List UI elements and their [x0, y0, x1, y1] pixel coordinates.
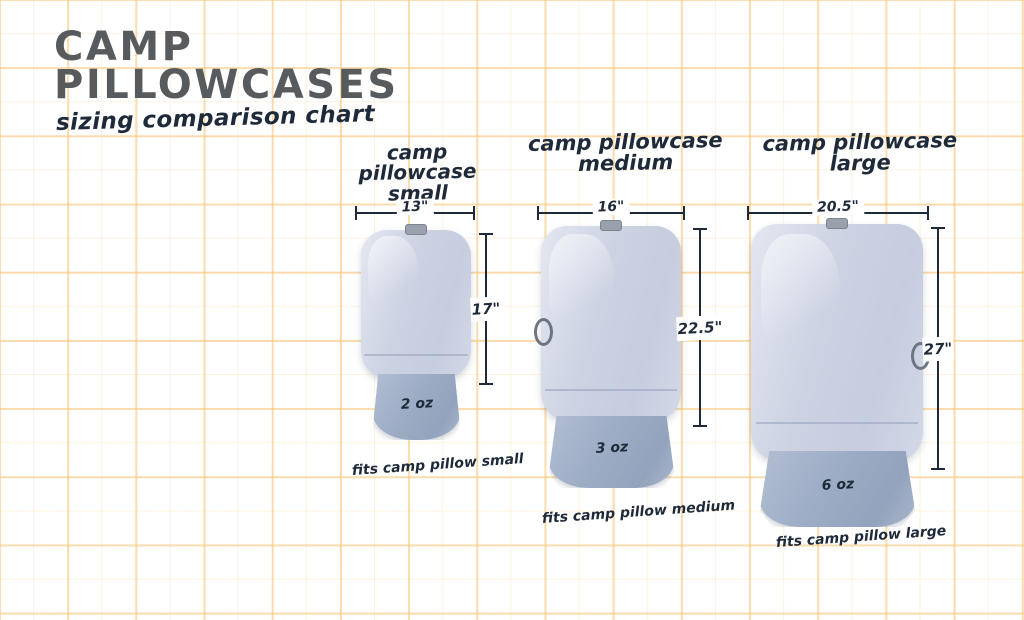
product-name-medium: camp pillowcase medium [518, 130, 734, 177]
height-dimension-small: 17" [478, 233, 494, 385]
hang-tab-icon-large [826, 218, 848, 229]
height-cap-top-medium [693, 228, 707, 230]
width-label-small: 13" [396, 198, 433, 215]
height-dimension-large: 27" [930, 227, 946, 470]
hang-tab-icon-medium [600, 220, 622, 231]
pillowcase-small [361, 230, 471, 380]
fits-caption-large: fits camp pillow large [775, 523, 946, 551]
width-cap-right-small [473, 206, 475, 220]
weight-label-medium: 3 oz [595, 440, 628, 458]
pillowcase-medium [541, 226, 681, 422]
pillowcase-large [751, 224, 923, 462]
height-label-small: 17" [470, 296, 502, 322]
width-cap-left-medium [537, 206, 539, 220]
height-cap-bottom-small [479, 383, 493, 385]
height-label-large: 27" [922, 336, 954, 362]
fabric-sheen-medium [549, 234, 613, 332]
height-cap-top-small [479, 233, 493, 235]
product-name-small-line1: camp pillowcase [358, 139, 476, 185]
height-cap-bottom-large [931, 468, 945, 470]
sizing-comparison-chart: CAMP PILLOWCASES sizing comparison chart… [0, 0, 1024, 620]
width-label-large: 20.5" [812, 198, 864, 216]
product-name-small: camp pillowcase small [329, 140, 505, 205]
weight-label-large: 6 oz [821, 476, 854, 494]
width-dimension-large: 20.5" [747, 203, 929, 219]
height-cap-bottom-medium [693, 425, 707, 427]
title-line-2: PILLOWCASES [54, 66, 399, 104]
page-title: CAMP PILLOWCASES [54, 28, 399, 104]
fabric-sheen-small [368, 236, 419, 311]
side-loop-icon-medium [534, 318, 553, 346]
height-label-medium: 22.5" [676, 314, 724, 340]
stuff-sack-large: 6 oz [760, 451, 915, 527]
height-dimension-medium: 22.5" [692, 228, 708, 427]
stuff-sack-medium: 3 oz [549, 416, 674, 488]
width-label-medium: 16" [592, 198, 629, 215]
stuff-sack-small: 2 oz [373, 374, 460, 440]
height-cap-top-large [931, 227, 945, 229]
width-cap-left-large [747, 206, 749, 220]
width-dimension-medium: 16" [537, 203, 685, 219]
width-cap-right-medium [683, 206, 685, 220]
weight-label-small: 2 oz [400, 396, 433, 414]
width-cap-left-small [355, 206, 357, 220]
width-cap-right-large [927, 206, 929, 220]
fits-caption-small: fits camp pillow small [351, 451, 524, 479]
title-line-1: CAMP [54, 28, 399, 66]
width-dimension-small: 13" [355, 203, 475, 219]
fits-caption-medium: fits camp pillow medium [541, 498, 735, 527]
hang-tab-icon-small [405, 224, 427, 235]
product-name-large: camp pillowcase large [740, 129, 981, 177]
fabric-sheen-large [761, 234, 840, 353]
